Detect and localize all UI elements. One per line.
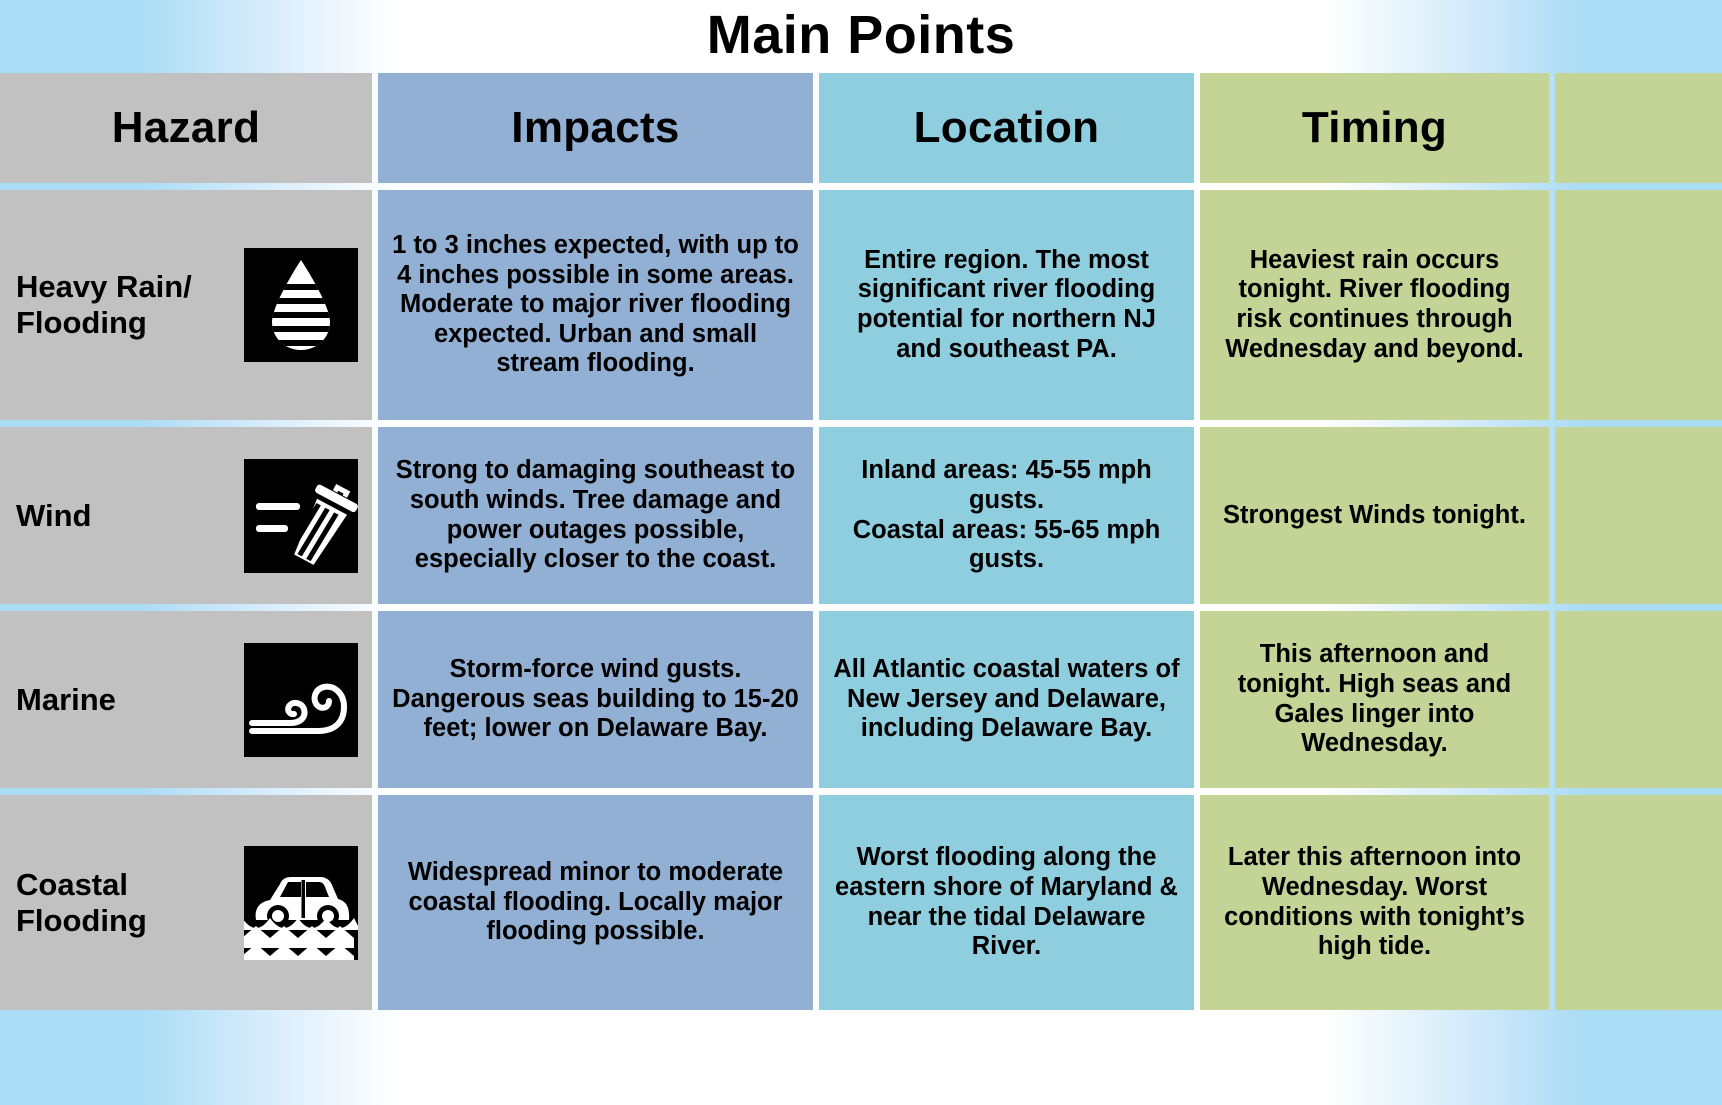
table-row-hazard-cell: Wind xyxy=(0,427,372,604)
flooded-car-icon xyxy=(244,846,358,960)
impacts-cell: Widespread minor to moderate coastal flo… xyxy=(378,795,813,1010)
raindrop-icon xyxy=(244,248,358,362)
timing-cell: This afternoon and tonight. High seas an… xyxy=(1200,611,1549,788)
column-header-hazard: Hazard xyxy=(0,73,372,183)
hazard-label: Heavy Rain/ Flooding xyxy=(16,269,234,340)
timing-cell-spill xyxy=(1555,427,1722,604)
page-title: Main Points xyxy=(707,8,1016,62)
column-header-timing-spill xyxy=(1555,73,1722,183)
hazard-label: Wind xyxy=(16,498,234,534)
location-cell: Entire region. The most significant rive… xyxy=(819,190,1194,420)
hazard-label: Coastal Flooding xyxy=(16,867,234,938)
wind-trashcan-icon xyxy=(244,459,358,573)
timing-cell-spill xyxy=(1555,611,1722,788)
timing-cell: Strongest Winds tonight. xyxy=(1200,427,1549,604)
impacts-cell: 1 to 3 inches expected, with up to 4 inc… xyxy=(378,190,813,420)
table-row-hazard-cell: Heavy Rain/ Flooding xyxy=(0,190,372,420)
timing-cell: Later this afternoon into Wednesday. Wor… xyxy=(1200,795,1549,1010)
column-header-impacts: Impacts xyxy=(378,73,813,183)
column-header-location: Location xyxy=(819,73,1194,183)
impacts-cell: Strong to damaging southeast to south wi… xyxy=(378,427,813,604)
table-row-hazard-cell: Marine xyxy=(0,611,372,788)
timing-cell-spill xyxy=(1555,190,1722,420)
location-cell: All Atlantic coastal waters of New Jerse… xyxy=(819,611,1194,788)
title-bar: Main Points xyxy=(0,0,1722,70)
location-cell: Worst flooding along the eastern shore o… xyxy=(819,795,1194,1010)
main-points-table: Hazard Impacts Location Timing Heavy Rai… xyxy=(0,73,1722,1010)
location-cell: Inland areas: 45-55 mph gusts. Coastal a… xyxy=(819,427,1194,604)
timing-cell: Heaviest rain occurs tonight. River floo… xyxy=(1200,190,1549,420)
hazard-label: Marine xyxy=(16,682,234,718)
wind-swirl-icon xyxy=(244,643,358,757)
timing-cell-spill xyxy=(1555,795,1722,1010)
impacts-cell: Storm-force wind gusts. Dangerous seas b… xyxy=(378,611,813,788)
table-row-hazard-cell: Coastal Flooding xyxy=(0,795,372,1010)
column-header-timing: Timing xyxy=(1200,73,1549,183)
